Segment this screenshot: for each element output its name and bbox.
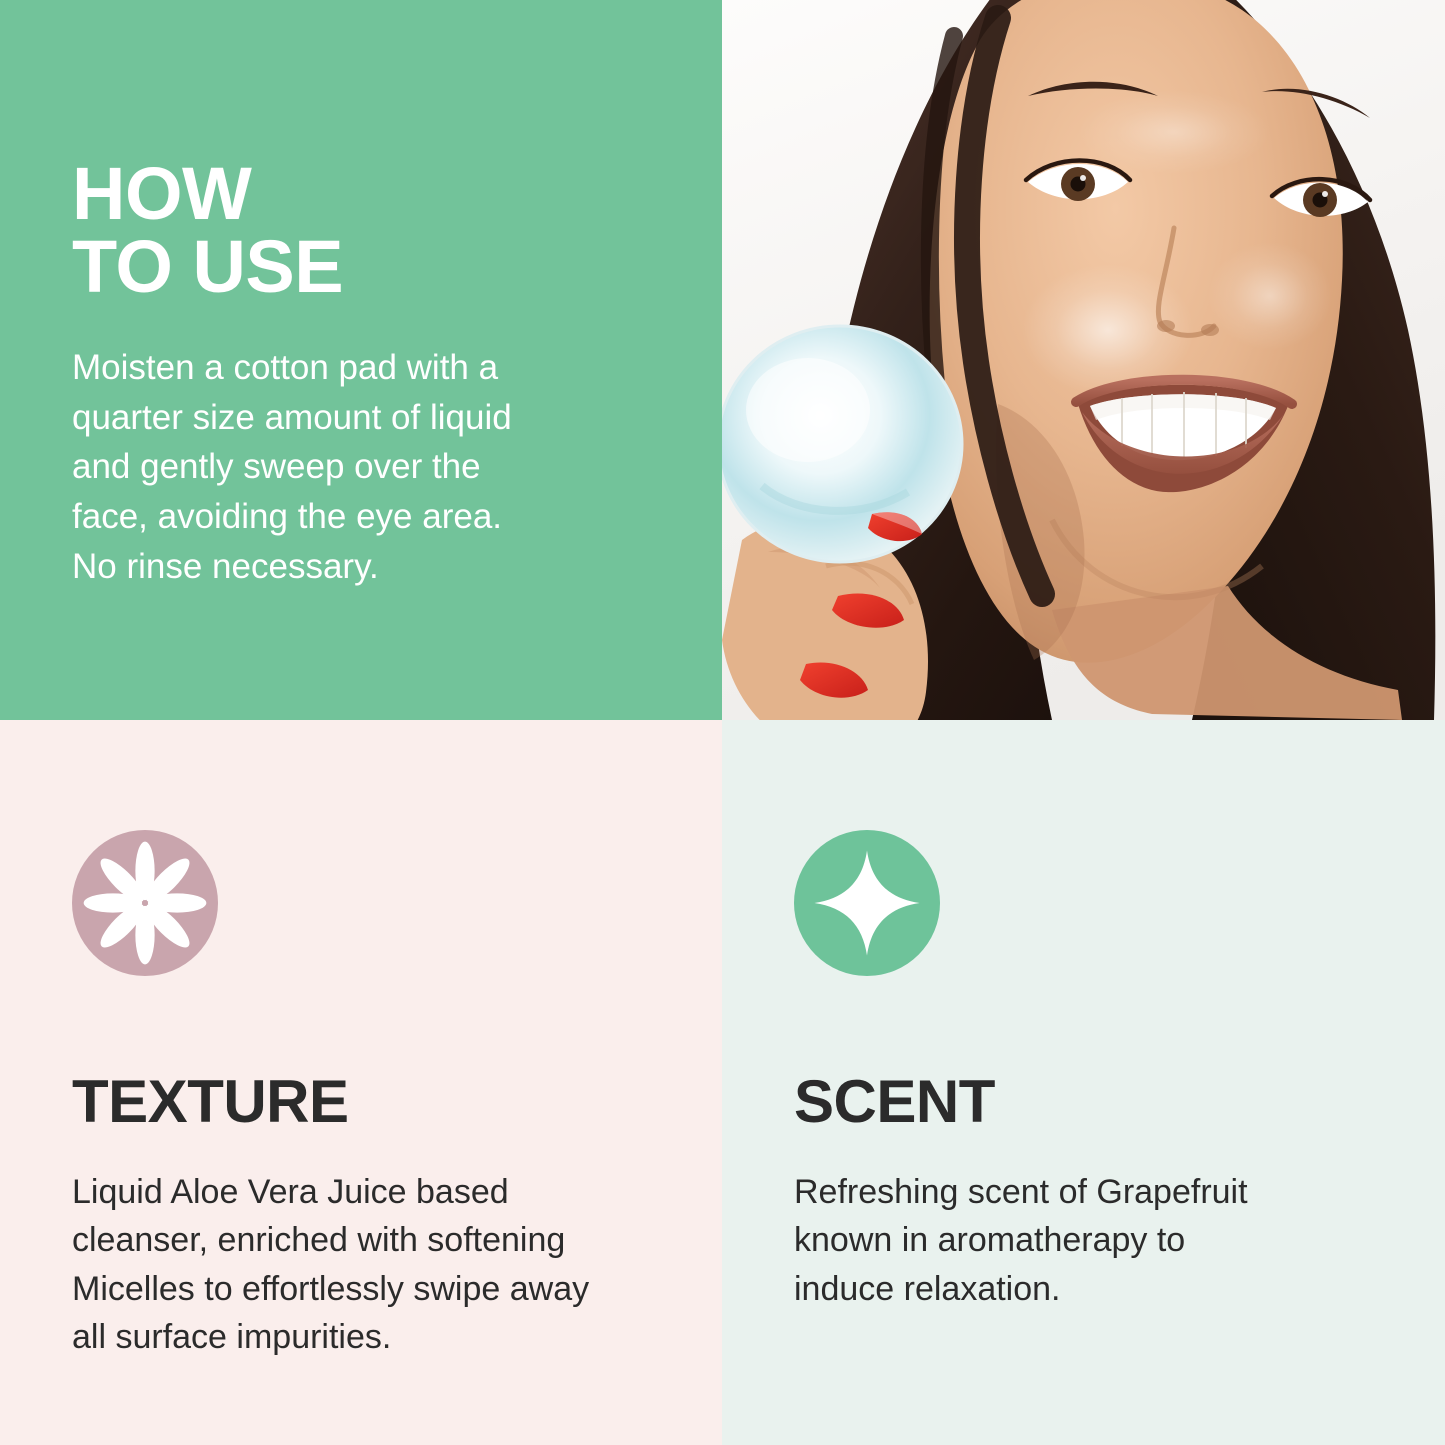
texture-content: TEXTURE Liquid Aloe Vera Juice based cle…	[72, 830, 672, 1361]
forehead-highlight	[1078, 90, 1270, 174]
panel-how-to-use: HOW TO USE Moisten a cotton pad with a q…	[0, 0, 722, 720]
product-infographic: HOW TO USE Moisten a cotton pad with a q…	[0, 0, 1445, 1445]
cheek-highlight-right	[1208, 242, 1332, 350]
panel-scent: SCENT Refreshing scent of Grapefruit kno…	[722, 720, 1445, 1445]
how-to-use-content: HOW TO USE Moisten a cotton pad with a q…	[72, 158, 612, 591]
scent-heading: SCENT	[794, 1072, 1354, 1132]
model-photo	[722, 0, 1445, 720]
model-photo-illustration	[722, 0, 1445, 720]
flower-petal-icon-glyph	[72, 830, 218, 976]
texture-heading: TEXTURE	[72, 1072, 672, 1132]
scent-body: Refreshing scent of Grapefruit known in …	[794, 1168, 1354, 1313]
how-to-use-heading: HOW TO USE	[72, 158, 612, 303]
texture-body: Liquid Aloe Vera Juice based cleanser, e…	[72, 1168, 672, 1361]
panel-texture: TEXTURE Liquid Aloe Vera Juice based cle…	[0, 720, 722, 1445]
cotton-pad	[722, 326, 962, 562]
sparkle-star-icon-glyph	[794, 830, 940, 976]
scent-content: SCENT Refreshing scent of Grapefruit kno…	[794, 830, 1354, 1313]
how-to-use-body: Moisten a cotton pad with a quarter size…	[72, 343, 612, 591]
flower-petal-icon	[72, 830, 218, 976]
sparkle-star-icon	[794, 830, 940, 976]
panel-model-photo	[722, 0, 1445, 720]
